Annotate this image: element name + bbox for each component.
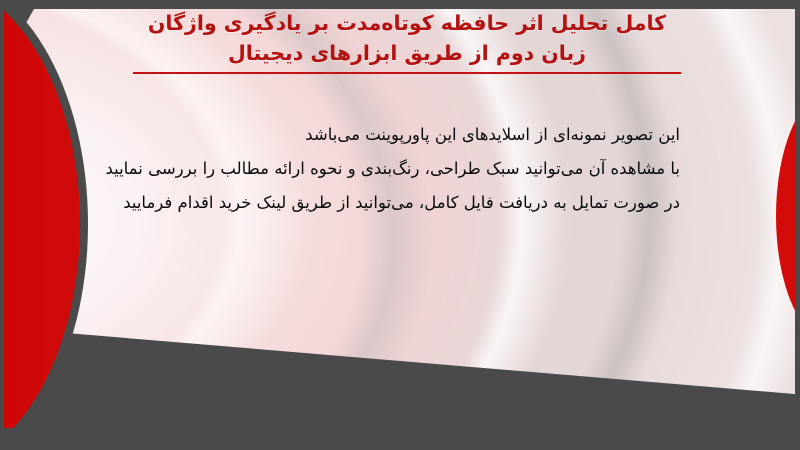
body-text-line-1: این تصویر نمونه‌ای از اسلایدهای این پاور… [60,118,680,152]
slide-title: کامل تحلیل اثر حافظه کوتاه‌مدت بر یادگیر… [133,8,681,74]
frame-band-right [795,0,800,450]
title-underline-rule [133,72,681,74]
presentation-slide: کامل تحلیل اثر حافظه کوتاه‌مدت بر یادگیر… [0,0,800,450]
frame-band-left [0,0,4,450]
slide-title-line-1: کامل تحلیل اثر حافظه کوتاه‌مدت بر یادگیر… [133,8,681,38]
slide-title-line-2: زبان دوم از طریق ابزارهای دیجیتال [133,38,681,68]
body-text-line-3: در صورت تمایل به دریافت فایل کامل، می‌تو… [60,186,680,220]
slide-body-text: این تصویر نمونه‌ای از اسلایدهای این پاور… [60,118,690,220]
body-text-line-2: با مشاهده آن می‌توانید سبک طراحی، رنگ‌بن… [60,152,680,186]
frame-band-bottom [0,428,800,450]
